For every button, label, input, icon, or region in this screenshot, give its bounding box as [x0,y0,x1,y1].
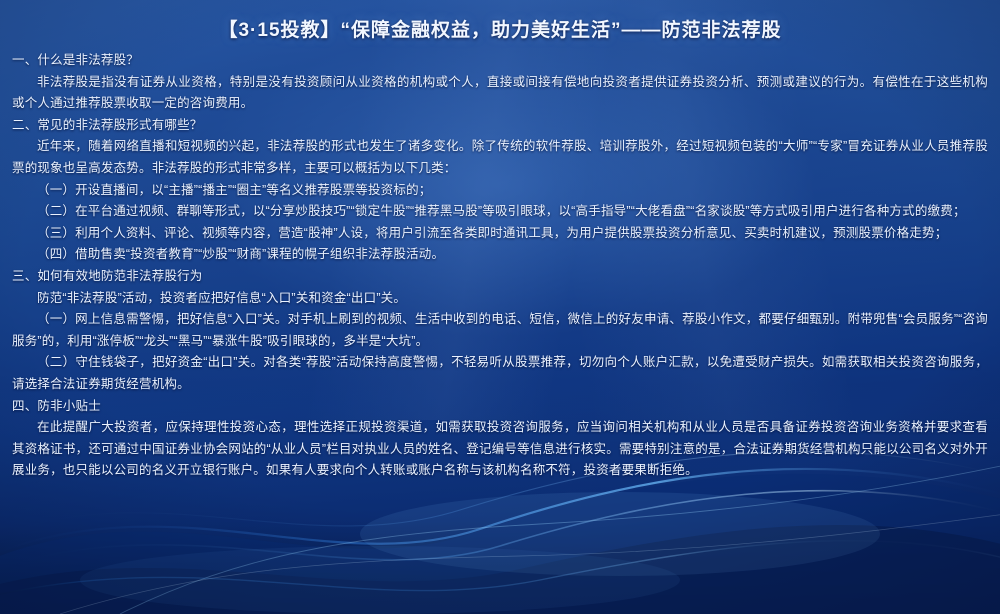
list-item: （一）开设直播间，以“主播”“播主”“圈主”等名义推荐股票等投资标的； [12,180,988,202]
paragraph: 非法荐股是指没有证券从业资格，特别是没有投资顾问从业资格的机构或个人，直接或间接… [12,72,988,115]
page-title: 【3·15投教】“保障金融权益，助力美好生活”——防范非法荐股 [0,15,1000,42]
paragraph: 防范“非法荐股”活动，投资者应把好信息“入口”关和资金“出口”关。 [12,288,988,310]
poster-body: 一、什么是非法荐股？非法荐股是指没有证券从业资格，特别是没有投资顾问从业资格的机… [12,50,988,482]
section-heading: 三、如何有效地防范非法荐股行为 [12,266,988,288]
section-heading: 四、防非小贴士 [12,396,988,418]
list-item: （二）在平台通过视频、群聊等形式，以“分享炒股技巧”“锁定牛股”“推荐黑马股”等… [12,201,988,223]
list-item: （二）守住钱袋子，把好资金“出口”关。对各类“荐股”活动保持高度警惕，不轻易听从… [12,352,988,395]
list-item: （一）网上信息需警惕，把好信息“入口”关。对手机上刷到的视频、生活中收到的电话、… [12,309,988,352]
poster-canvas: 【3·15投教】“保障金融权益，助力美好生活”——防范非法荐股 一、什么是非法荐… [0,0,1000,614]
section-heading: 一、什么是非法荐股？ [12,50,988,72]
list-item: （四）借助售卖“投资者教育”“炒股”“财商”课程的幌子组织非法荐股活动。 [12,244,988,266]
paragraph: 近年来，随着网络直播和短视频的兴起，非法荐股的形式也发生了诸多变化。除了传统的软… [12,136,988,179]
list-item: （三）利用个人资料、评论、视频等内容，营造“股神”人设，将用户引流至各类即时通讯… [12,223,988,245]
paragraph: 在此提醒广大投资者，应保持理性投资心态，理性选择正规投资渠道，如需获取投资咨询服… [12,417,988,482]
section-heading: 二、常见的非法荐股形式有哪些？ [12,115,988,137]
